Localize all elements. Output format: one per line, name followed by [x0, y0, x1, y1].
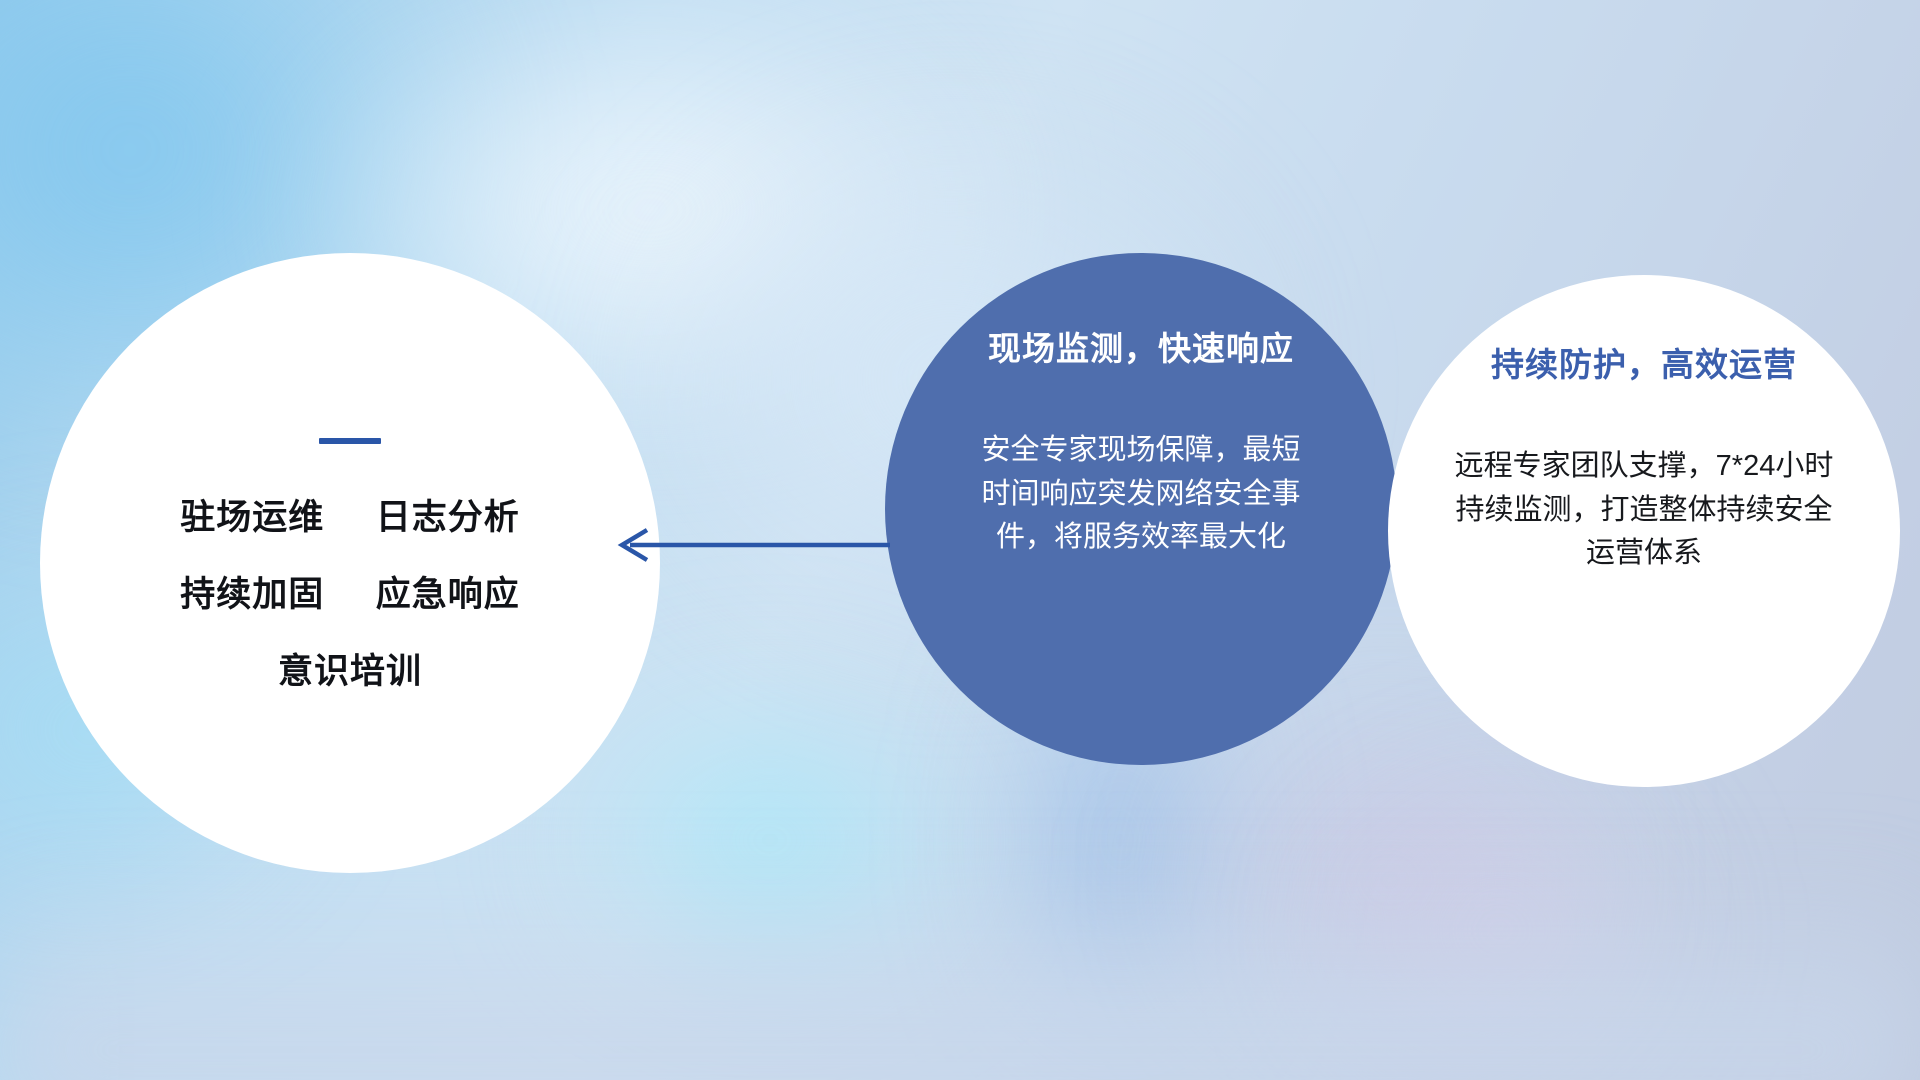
keyword-onsite-ops: 驻场运维 — [180, 498, 324, 537]
node-service-capabilities[interactable]: 驻场运维 日志分析 持续加固 应急响应 意识培训 — [40, 253, 660, 873]
diagram-canvas: 现场监测，快速响应 安全专家现场保障，最短时间响应突发网络安全事件，将服务效率最… — [0, 0, 1920, 1080]
keyword-row-2: 持续加固 应急响应 — [180, 577, 520, 612]
node-onsite-monitoring[interactable]: 现场监测，快速响应 安全专家现场保障，最短时间响应突发网络安全事件，将服务效率最… — [885, 253, 1397, 765]
horizontal-dash-icon — [319, 438, 381, 444]
arrow-left-icon — [600, 520, 890, 570]
keyword-emergency-response: 应急响应 — [376, 575, 520, 614]
keyword-row-1: 驻场运维 日志分析 — [180, 500, 520, 535]
keyword-log-analysis: 日志分析 — [376, 498, 520, 537]
keyword-awareness-training: 意识培训 — [278, 652, 422, 691]
keyword-row-3: 意识培训 — [278, 654, 422, 689]
node-continuous-protection-title: 持续防护，高效运营 — [1491, 347, 1797, 383]
keyword-continuous-hardening: 持续加固 — [180, 575, 324, 614]
node-continuous-protection-body: 远程专家团队支撑，7*24小时持续监测，打造整体持续安全运营体系 — [1444, 445, 1844, 576]
node-onsite-monitoring-title: 现场监测，快速响应 — [988, 331, 1294, 367]
node-onsite-monitoring-body: 安全专家现场保障，最短时间响应突发网络安全事件，将服务效率最大化 — [976, 429, 1306, 560]
node-continuous-protection[interactable]: 持续防护，高效运营 远程专家团队支撑，7*24小时持续监测，打造整体持续安全运营… — [1388, 275, 1900, 787]
